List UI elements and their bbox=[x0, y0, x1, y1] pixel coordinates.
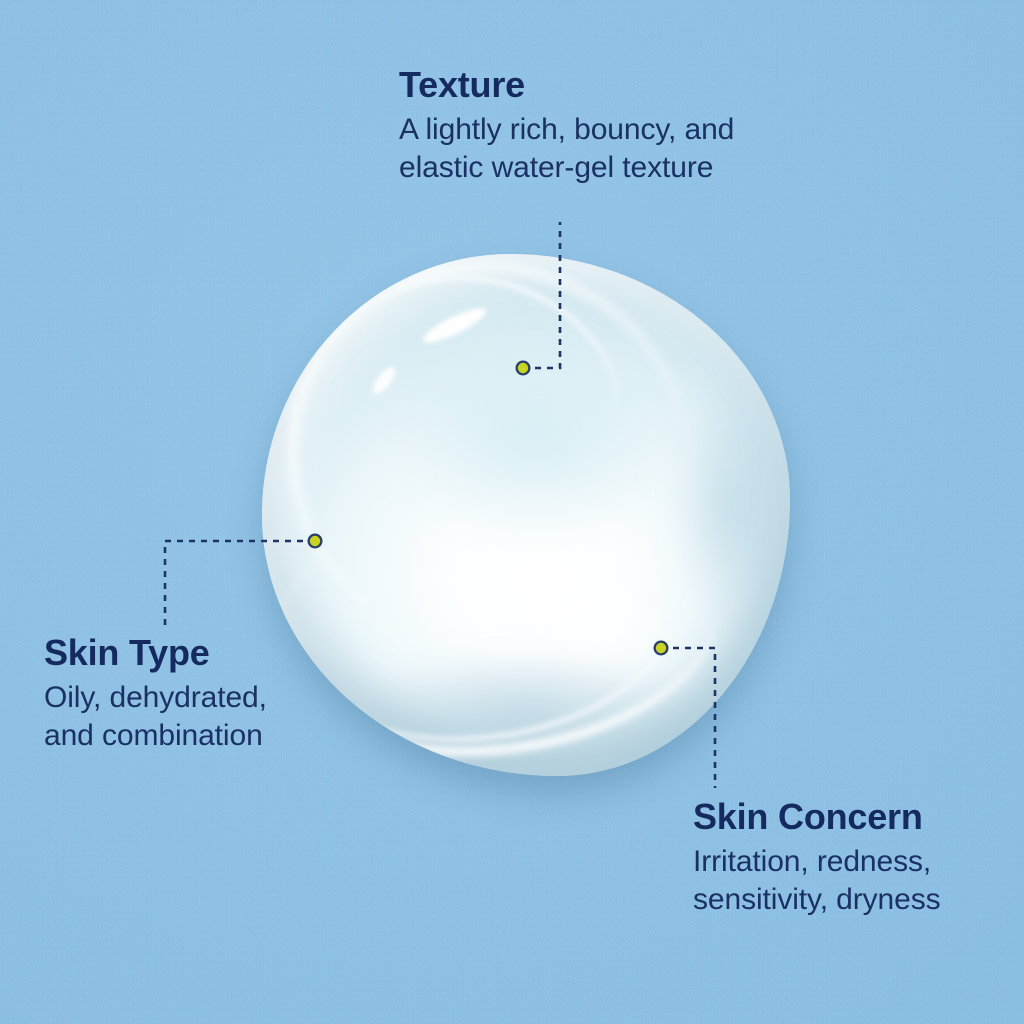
callout-skin-concern-body-line-1: Irritation, redness, bbox=[693, 845, 931, 878]
callout-texture: Texture A lightly rich, bouncy, and elas… bbox=[399, 66, 869, 186]
callout-texture-body-line-1: A lightly rich, bouncy, and bbox=[399, 113, 734, 146]
callout-skin-concern: Skin Concern Irritation, redness, sensit… bbox=[693, 798, 1023, 918]
callout-skin-type-title: Skin Type bbox=[44, 634, 384, 673]
callout-skin-type-body-line-2: and combination bbox=[44, 719, 263, 752]
infographic-canvas: Texture A lightly rich, bouncy, and elas… bbox=[0, 0, 1024, 1024]
callout-texture-body-line-2: elastic water-gel texture bbox=[399, 151, 713, 184]
callout-skin-concern-body: Irritation, redness, sensitivity, drynes… bbox=[693, 843, 1023, 919]
callout-texture-body: A lightly rich, bouncy, and elastic wate… bbox=[399, 111, 869, 187]
callout-skin-concern-body-line-2: sensitivity, dryness bbox=[693, 883, 941, 916]
callout-skin-type-body-line-1: Oily, dehydrated, bbox=[44, 681, 267, 714]
callout-skin-type-body: Oily, dehydrated, and combination bbox=[44, 679, 384, 755]
callout-skin-concern-title: Skin Concern bbox=[693, 798, 1023, 837]
callout-texture-title: Texture bbox=[399, 66, 869, 105]
callout-skin-type: Skin Type Oily, dehydrated, and combinat… bbox=[44, 634, 384, 754]
